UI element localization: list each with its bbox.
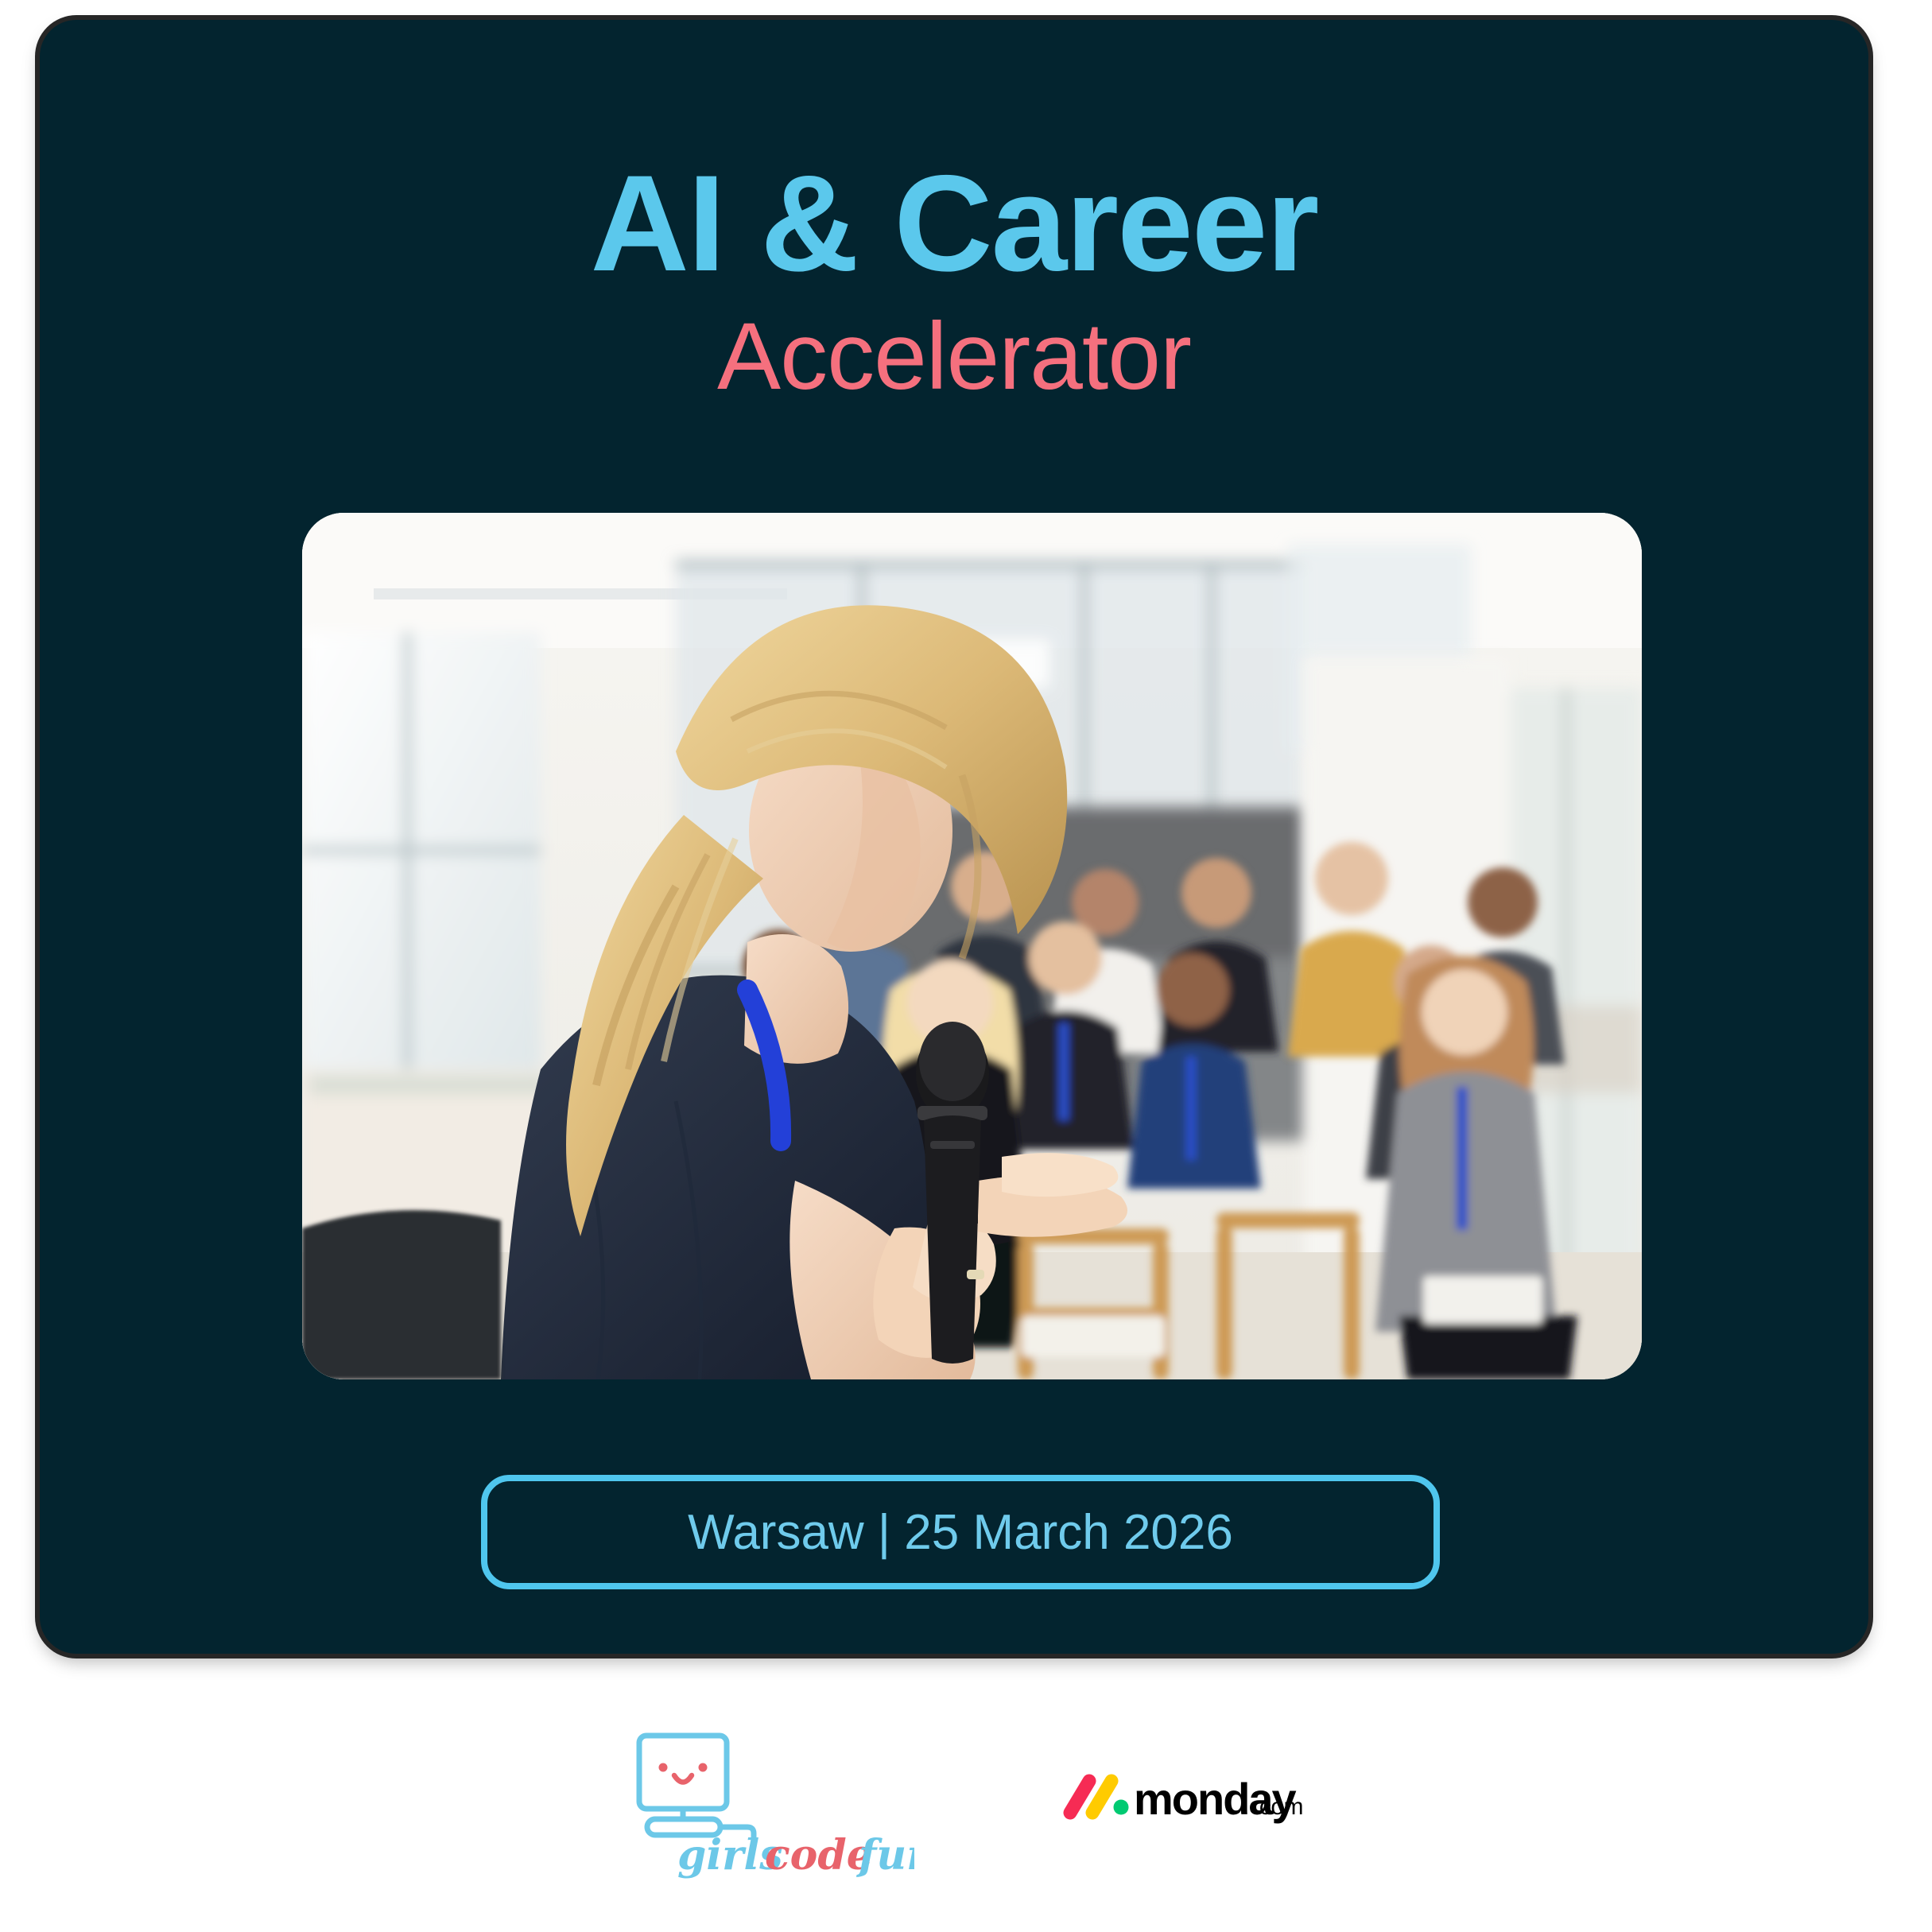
poster-card: AI & Career Accelerator	[40, 20, 1868, 1654]
event-photo	[302, 513, 1642, 1379]
logo-monday-com[interactable]: monday .com	[1057, 1768, 1320, 1841]
event-date-location-text: Warsaw | 25 March 2026	[688, 1504, 1233, 1561]
footer-logo-row: girls code fun monday .com	[0, 1729, 1932, 1880]
page-title: AI & Career	[40, 155, 1868, 292]
logo-girls-code-fun[interactable]: girls code fun	[612, 1729, 914, 1880]
girls-code-fun-logo-icon: girls code fun	[612, 1729, 914, 1880]
monday-com-logo-icon: monday .com	[1057, 1768, 1320, 1841]
headline-block: AI & Career Accelerator	[40, 155, 1868, 406]
event-date-location-badge[interactable]: Warsaw | 25 March 2026	[481, 1475, 1440, 1589]
page-subtitle: Accelerator	[40, 306, 1868, 406]
event-photo-illustration	[302, 513, 1642, 1379]
monday-suffix: .com	[1253, 1794, 1303, 1820]
gcf-word-fun: fun	[855, 1831, 914, 1880]
gcf-word-code: code	[765, 1831, 873, 1880]
